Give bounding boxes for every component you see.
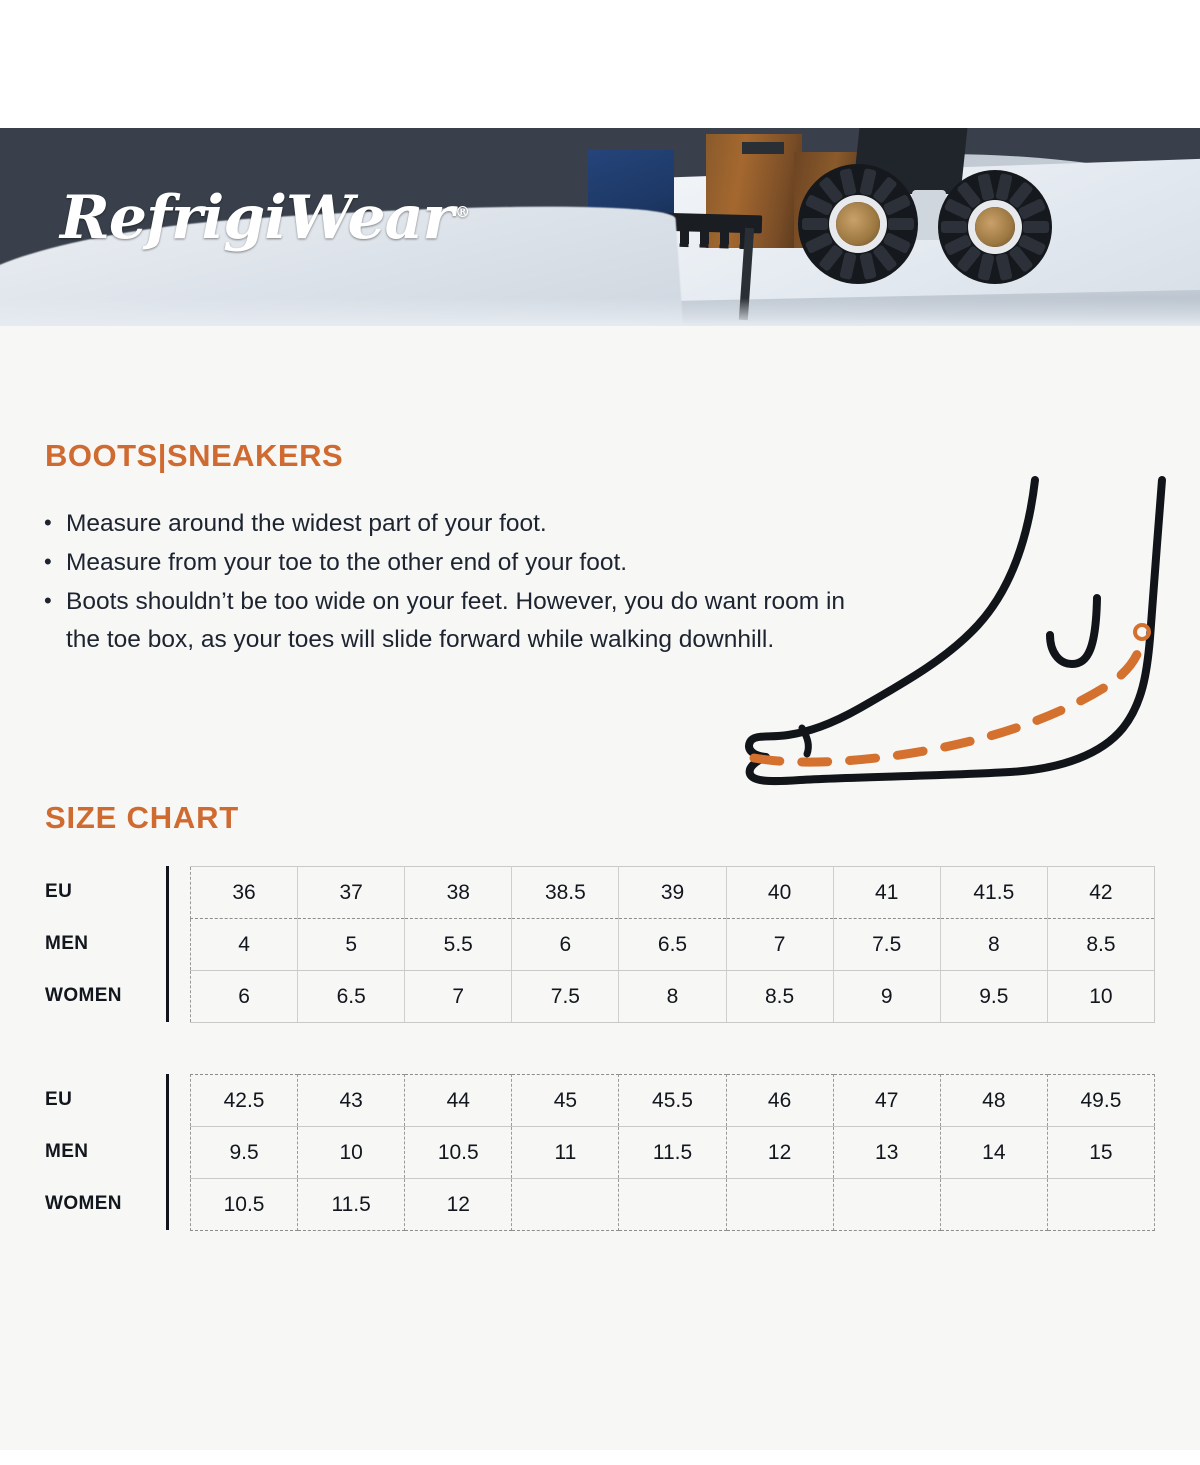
table-cell: 8 [619, 971, 726, 1023]
table-cell: 49.5 [1047, 1075, 1154, 1127]
foot-outline-path [749, 480, 1162, 781]
table-cell: 7 [405, 971, 512, 1023]
tire-tread [1023, 221, 1049, 233]
size-table-1: 36 37 38 38.5 39 40 41 41.5 42 4 5 5.5 6… [190, 866, 1155, 1023]
table-cell: 8.5 [726, 971, 833, 1023]
tire-tread [941, 221, 967, 233]
table-cell: 10 [298, 1127, 405, 1179]
row-label-eu: EU [45, 866, 165, 918]
tire-tread [802, 218, 828, 230]
tire-tread [883, 194, 912, 216]
toe-crease-path [802, 728, 808, 754]
table-cell: 7 [726, 919, 833, 971]
tire-tread [888, 218, 914, 230]
size-chart-page: RefrigiWear® BOOTS|SNEAKERS Measure arou… [0, 0, 1200, 1465]
table-cell: 12 [726, 1127, 833, 1179]
table-cell: 45 [512, 1075, 619, 1127]
table-cell: 10.5 [191, 1179, 298, 1231]
table-cell: 6.5 [619, 919, 726, 971]
size-chart-heading: SIZE CHART [45, 800, 239, 836]
table-cell: 38.5 [512, 867, 619, 919]
table-cell: 8 [940, 919, 1047, 971]
size-table-2: 42.5 43 44 45 45.5 46 47 48 49.5 9.5 10 … [190, 1074, 1155, 1231]
bottom-white-margin [0, 1450, 1200, 1465]
table-cell: 4 [191, 919, 298, 971]
ankle-bone-path [1050, 598, 1097, 664]
table-row: 42.5 43 44 45 45.5 46 47 48 49.5 [191, 1075, 1155, 1127]
table-cell: 9 [833, 971, 940, 1023]
row-label-women: WOMEN [45, 970, 165, 1022]
table-cell: 38 [405, 867, 512, 919]
foot-side-view-icon [710, 470, 1180, 790]
table-cell: 11 [512, 1127, 619, 1179]
table-row: 6 6.5 7 7.5 8 8.5 9 9.5 10 [191, 971, 1155, 1023]
table-cell: 45.5 [619, 1075, 726, 1127]
size-table-2-row-labels: EU MEN WOMEN [45, 1074, 165, 1230]
table-cell: 36 [191, 867, 298, 919]
table-cell: 6.5 [298, 971, 405, 1023]
row-label-men: MEN [45, 918, 165, 970]
logo-wordmark: RefrigiWear [60, 183, 453, 253]
tractor-window [742, 142, 784, 154]
table-cell: 8.5 [1047, 919, 1154, 971]
table-cell [512, 1179, 619, 1231]
tire-tread [859, 168, 876, 196]
tractor-tire-front [798, 164, 918, 284]
table-cell: 9.5 [940, 971, 1047, 1023]
table-cell: 7.5 [833, 919, 940, 971]
table-cell: 10.5 [405, 1127, 512, 1179]
table-cell: 46 [726, 1075, 833, 1127]
table-cell: 41 [833, 867, 940, 919]
table-cell: 10 [1047, 971, 1154, 1023]
table-cell: 6 [191, 971, 298, 1023]
table-cell [940, 1179, 1047, 1231]
table-cell: 48 [940, 1075, 1047, 1127]
row-label-men: MEN [45, 1126, 165, 1178]
table-cell: 39 [619, 867, 726, 919]
table-cell: 7.5 [512, 971, 619, 1023]
table-cell: 6 [512, 919, 619, 971]
top-white-margin [0, 0, 1200, 128]
table-cell: 12 [405, 1179, 512, 1231]
table-cell: 15 [1047, 1127, 1154, 1179]
tire-tread [859, 252, 876, 280]
table-cell [726, 1179, 833, 1231]
foot-illustration [710, 470, 1180, 790]
boots-sneakers-heading: BOOTS|SNEAKERS [45, 438, 343, 474]
table-cell [619, 1179, 726, 1231]
refrigiwear-logo: RefrigiWear® [60, 183, 469, 253]
table-cell: 9.5 [191, 1127, 298, 1179]
table-cell: 5 [298, 919, 405, 971]
table-cell: 43 [298, 1075, 405, 1127]
table-cell: 47 [833, 1075, 940, 1127]
table-cell: 44 [405, 1075, 512, 1127]
table-cell: 42 [1047, 867, 1154, 919]
table-row: 4 5 5.5 6 6.5 7 7.5 8 8.5 [191, 919, 1155, 971]
hero-ground-haze [0, 298, 1200, 326]
table-cell: 41.5 [940, 867, 1047, 919]
row-label-women: WOMEN [45, 1178, 165, 1230]
table-cell [833, 1179, 940, 1231]
table-row: 36 37 38 38.5 39 40 41 41.5 42 [191, 867, 1155, 919]
tire-tread [977, 253, 994, 281]
table-cell: 11.5 [298, 1179, 405, 1231]
table-cell: 13 [833, 1127, 940, 1179]
tire-tread [977, 173, 994, 201]
size-table-1-row-labels: EU MEN WOMEN [45, 866, 165, 1022]
table-cell: 37 [298, 867, 405, 919]
table-cell: 42.5 [191, 1075, 298, 1127]
tire-tread [840, 168, 857, 196]
table-cell: 14 [940, 1127, 1047, 1179]
size-table-2-divider-bar [166, 1074, 169, 1230]
table-cell: 5.5 [405, 919, 512, 971]
table-row: 9.5 10 10.5 11 11.5 12 13 14 15 [191, 1127, 1155, 1179]
table-cell: 40 [726, 867, 833, 919]
tire-tread [840, 252, 857, 280]
table-cell: 11.5 [619, 1127, 726, 1179]
table-row: 10.5 11.5 12 [191, 1179, 1155, 1231]
size-table-1-divider-bar [166, 866, 169, 1022]
row-label-eu: EU [45, 1074, 165, 1126]
table-cell [1047, 1179, 1154, 1231]
tire-tread [995, 253, 1012, 281]
tractor-tire-rear [938, 170, 1052, 284]
registered-trademark-icon: ® [455, 203, 469, 221]
